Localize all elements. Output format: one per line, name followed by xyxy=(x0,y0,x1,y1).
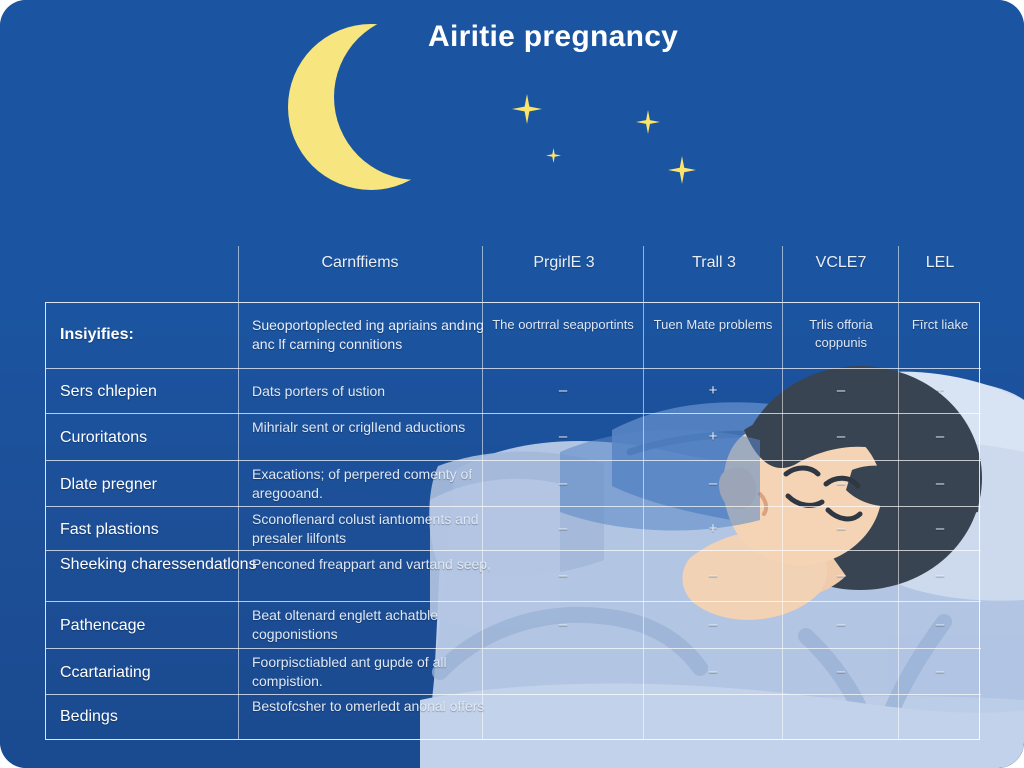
cell-prgirle: – xyxy=(486,428,640,445)
table-header-row: Carnffiems PrgirlE 3 Trall 3 VCLE7 LEL xyxy=(45,246,980,302)
star-icon xyxy=(546,148,561,163)
row-description: Beat oltenard englett achatble cogponist… xyxy=(252,606,514,644)
cell-vcle: – xyxy=(786,663,896,680)
row-description: Dats porters of ustion xyxy=(252,382,500,401)
cell-vcle: – xyxy=(786,616,896,633)
cell-prgirle: The oortrral seapportints xyxy=(486,316,640,334)
star-icon xyxy=(668,156,696,184)
cell-lel: – xyxy=(902,567,978,584)
cell-trall: + xyxy=(647,520,779,537)
page-title: Airitie pregnancy xyxy=(428,20,678,54)
column-header-lel: LEL xyxy=(902,254,978,272)
star-icon xyxy=(636,110,660,134)
row-description: Foorpisctiabled ant gupde of all compist… xyxy=(252,653,514,691)
cell-prgirle: – xyxy=(486,567,640,584)
cell-lel: Fīrct liake xyxy=(902,316,978,334)
cell-trall: – xyxy=(647,567,779,584)
cell-vcle: – xyxy=(786,382,896,399)
star-icon xyxy=(512,94,542,124)
column-header-trall: Trall 3 xyxy=(649,254,779,272)
cell-lel: – xyxy=(902,616,978,633)
cell-trall: – xyxy=(647,475,779,492)
cell-prgirle: – xyxy=(486,382,640,399)
cell-lel: – xyxy=(902,520,978,537)
row-description: Bestofcsher to omerledt anonal offers xyxy=(252,697,514,716)
table-row: Sers chlepien Dats porters of ustion – +… xyxy=(46,369,981,414)
row-label: Curoritatons xyxy=(60,428,270,447)
table-row: Sheeking charessendatlons Penconed freap… xyxy=(46,551,981,602)
row-label: Insiyifies: xyxy=(60,325,270,344)
row-description: Penconed freappart and vartand seep, xyxy=(252,555,514,574)
table-row: Dlate pregner Exacations; of perpered co… xyxy=(46,461,981,507)
cell-trall: Tuen Mate problems xyxy=(647,316,779,334)
column-header-prgirle: PrgirlE 3 xyxy=(489,254,639,272)
column-header-carnffiems: Carnffiems xyxy=(245,254,475,272)
poster-canvas: Airitie pregnancy Carnffiems PrgirlE 3 T… xyxy=(0,0,1024,768)
table-row: Insiyifies: Sueoportoplected ing apriain… xyxy=(46,303,981,369)
row-description: Mihrialr sent or criglIend aductions xyxy=(252,418,500,437)
cell-vcle: – xyxy=(786,428,896,445)
cell-prgirle: – xyxy=(486,616,640,633)
row-description: Sueoportoplected ing apriains andıng anc… xyxy=(252,316,500,354)
cell-lel: – xyxy=(902,475,978,492)
table-row: Ccartariating Foorpisctiabled ant gupde … xyxy=(46,649,981,695)
cell-vcle: – xyxy=(786,567,896,584)
cell-lel: – xyxy=(902,428,978,445)
cell-vcle: – xyxy=(786,475,896,492)
cell-trall: + xyxy=(647,428,779,445)
comparison-table: Insiyifies: Sueoportoplected ing apriain… xyxy=(45,302,980,740)
cell-prgirle: – xyxy=(486,475,640,492)
table-row: Curoritatons Mihrialr sent or criglIend … xyxy=(46,414,981,461)
row-label: Ccartariating xyxy=(60,663,270,682)
cell-trall: – xyxy=(647,616,779,633)
row-label: Pathencage xyxy=(60,616,270,635)
table-row: Bedings Bestofcsher to omerledt anonal o… xyxy=(46,695,981,739)
row-description: Sconoflenard colust iantıoments and pres… xyxy=(252,510,514,548)
row-label: Bedings xyxy=(60,707,270,726)
table-row: Fast plastions Sconoflenard colust iantı… xyxy=(46,507,981,551)
cell-lel: – xyxy=(902,663,978,680)
cell-lel: + xyxy=(902,382,978,399)
cell-trall: – xyxy=(647,663,779,680)
row-label: Fast plastions xyxy=(60,520,270,539)
cell-trall: + xyxy=(647,382,779,399)
row-description: Exacations; of perpered comenty of arego… xyxy=(252,465,512,503)
row-label: Sers chlepien xyxy=(60,382,270,401)
cell-prgirle: – xyxy=(486,520,640,537)
cell-vcle: – xyxy=(786,520,896,537)
cell-vcle: Trlis offoria coppunis xyxy=(786,316,896,352)
table-row: Pathencage Beat oltenard englett achatbl… xyxy=(46,602,981,649)
column-header-vcle: VCLE7 xyxy=(787,254,895,272)
row-label: Sheeking charessendatlons xyxy=(60,555,260,574)
row-label: Dlate pregner xyxy=(60,475,270,494)
